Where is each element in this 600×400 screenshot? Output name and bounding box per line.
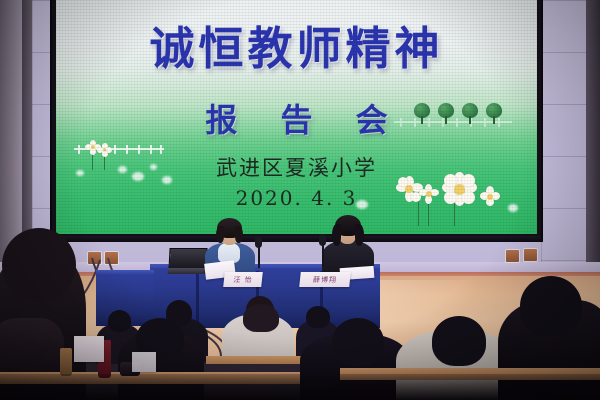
led-screen-foot [52, 236, 541, 242]
foreground-shadow-band [0, 374, 600, 400]
wall-socket-4 [524, 249, 537, 261]
bag-foreground [74, 336, 104, 362]
led-screen-slide: 诚恒教师精神 报 告 会 武进区夏溪小学 2020. 4. 3 [56, 0, 537, 234]
nameplate-left: 汪 怡 [223, 272, 263, 287]
slide-title: 诚恒教师精神 [56, 12, 537, 77]
laptop-screen [169, 249, 206, 269]
head-table-left-top [96, 270, 154, 276]
slide-school-name: 武进区夏溪小学 [56, 152, 537, 182]
microphone-left [254, 236, 264, 266]
table-drape-fold-1 [196, 271, 199, 327]
nameplate-right: 薛博翔 [299, 272, 351, 287]
wall-socket-3 [506, 250, 519, 262]
slide-subtitle: 报 告 会 [56, 95, 537, 141]
slide-date: 2020. 4. 3 [56, 186, 537, 210]
laptop-keyboard [168, 268, 207, 274]
thermos-2 [60, 348, 72, 376]
microphone-right [318, 234, 328, 266]
photo-scene: 诚恒教师精神 报 告 会 武进区夏溪小学 2020. 4. 3 [0, 0, 600, 400]
wall-right-column [586, 0, 600, 300]
papers-foreground [132, 352, 156, 372]
